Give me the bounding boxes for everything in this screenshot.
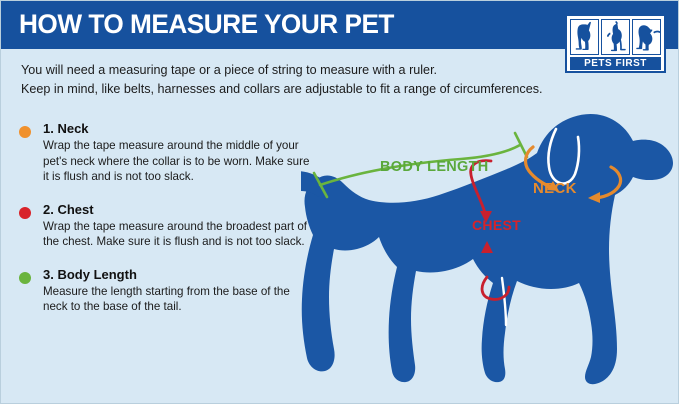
pet-measurement-infographic: HOW TO MEASURE YOUR PET PETS FIRST (0, 0, 679, 404)
dog-sitting-icon (570, 19, 599, 55)
bullet-neck-icon (19, 126, 31, 138)
label-body-length: BODY LENGTH (380, 159, 489, 175)
intro-line-1: You will need a measuring tape or a piec… (21, 61, 581, 80)
step-title-neck: 1. Neck (43, 121, 309, 136)
step-item-neck: 1. Neck Wrap the tape measure around the… (19, 121, 309, 185)
intro-line-2: Keep in mind, like belts, harnesses and … (21, 80, 581, 99)
logo-icon-row (570, 19, 661, 55)
label-chest: CHEST (472, 217, 521, 233)
measurement-steps-list: 1. Neck Wrap the tape measure around the… (19, 121, 309, 332)
dog-diagram: BODY LENGTH NECK CHEST (301, 101, 679, 401)
step-title-chest: 2. Chest (43, 202, 309, 217)
step-description-chest: Wrap the tape measure around the broades… (43, 219, 311, 250)
step-description-neck: Wrap the tape measure around the middle … (43, 138, 311, 185)
step-item-body-length: 3. Body Length Measure the length starti… (19, 267, 309, 315)
logo-brand-name: PETS FIRST (570, 57, 661, 70)
step-description-body-length: Measure the length starting from the bas… (43, 284, 311, 315)
label-neck: NECK (533, 180, 577, 197)
dog-standing-icon (632, 19, 661, 55)
step-item-chest: 2. Chest Wrap the tape measure around th… (19, 202, 309, 250)
bullet-body-length-icon (19, 272, 31, 284)
intro-text: You will need a measuring tape or a piec… (21, 61, 581, 99)
step-title-body-length: 3. Body Length (43, 267, 309, 282)
bullet-chest-icon (19, 207, 31, 219)
dog-begging-icon (601, 19, 630, 55)
page-title: HOW TO MEASURE YOUR PET (19, 9, 394, 40)
